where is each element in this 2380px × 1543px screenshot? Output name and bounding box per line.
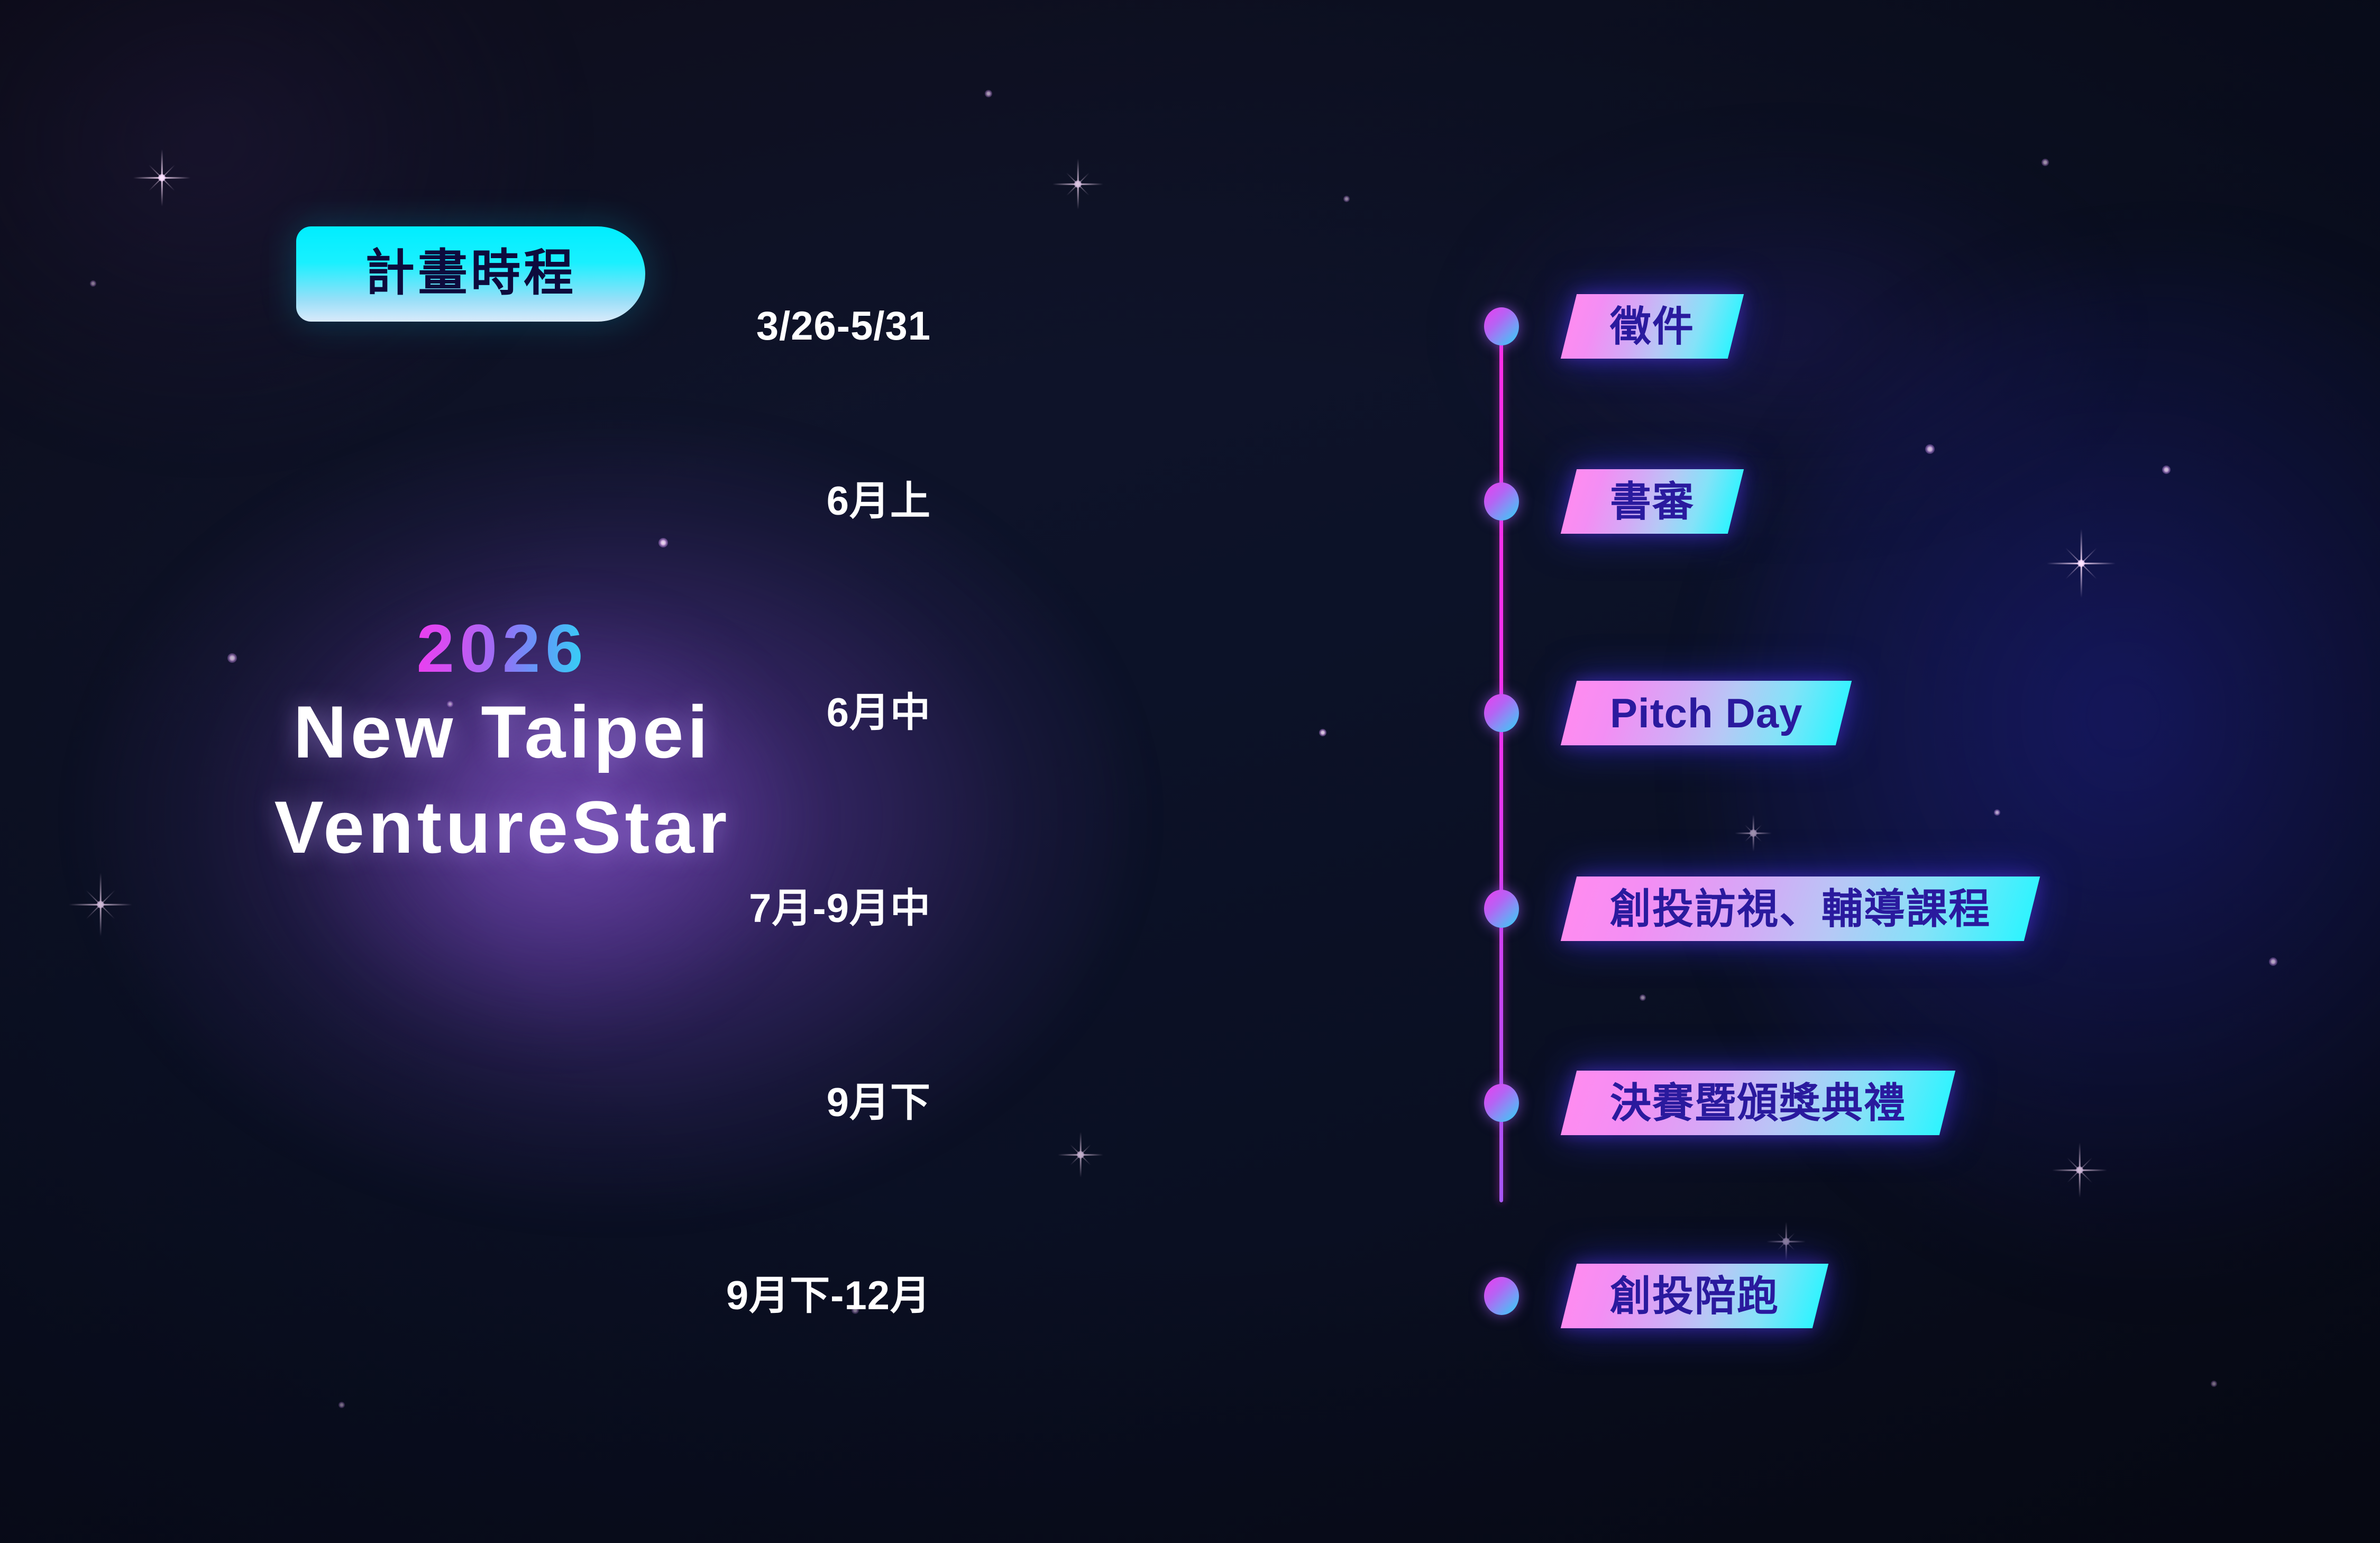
timeline-chip-label: Pitch Day (1610, 692, 1802, 734)
timeline-node-dot-icon (1484, 1084, 1519, 1122)
timeline-node-dot-icon (1484, 307, 1519, 345)
timeline-node-dot-icon (1484, 482, 1519, 521)
timeline-axis-line (1499, 326, 1503, 1202)
timeline-chip[interactable]: 書審 (1569, 469, 1736, 534)
timeline-chip-label: 徵件 (1610, 306, 1695, 347)
timeline-date: 9月下-12月 (726, 1276, 931, 1316)
timeline-date: 6月中 (827, 693, 931, 733)
timeline-chip[interactable]: 創投陪跑 (1569, 1264, 1820, 1328)
timeline-node-dot-icon (1484, 890, 1519, 928)
timeline-poster: 計畫時程 2026 New Taipei VentureStar 3/26-5/… (0, 0, 2380, 1543)
timeline-chip[interactable]: 創投訪視、輔導課程 (1569, 877, 2032, 941)
timeline-date: 7月-9月中 (749, 889, 931, 929)
timeline: 3/26-5/31 徵件 6月上 書審 6月中 Pitch Day 7月-9月中 (0, 0, 2380, 1543)
timeline-date: 9月下 (827, 1083, 931, 1123)
timeline-chip[interactable]: Pitch Day (1569, 681, 1844, 745)
timeline-node-dot-icon (1484, 1277, 1519, 1315)
timeline-chip-label: 書審 (1610, 481, 1695, 522)
timeline-date: 3/26-5/31 (756, 306, 931, 346)
timeline-chip[interactable]: 徵件 (1569, 294, 1736, 359)
timeline-chip-label: 創投訪視、輔導課程 (1610, 888, 1991, 929)
timeline-chip-label: 決賽暨頒獎典禮 (1610, 1082, 1906, 1124)
timeline-chip-label: 創投陪跑 (1610, 1275, 1779, 1317)
timeline-chip[interactable]: 決賽暨頒獎典禮 (1569, 1071, 1947, 1135)
timeline-node-dot-icon (1484, 694, 1519, 732)
timeline-date: 6月上 (827, 481, 931, 522)
